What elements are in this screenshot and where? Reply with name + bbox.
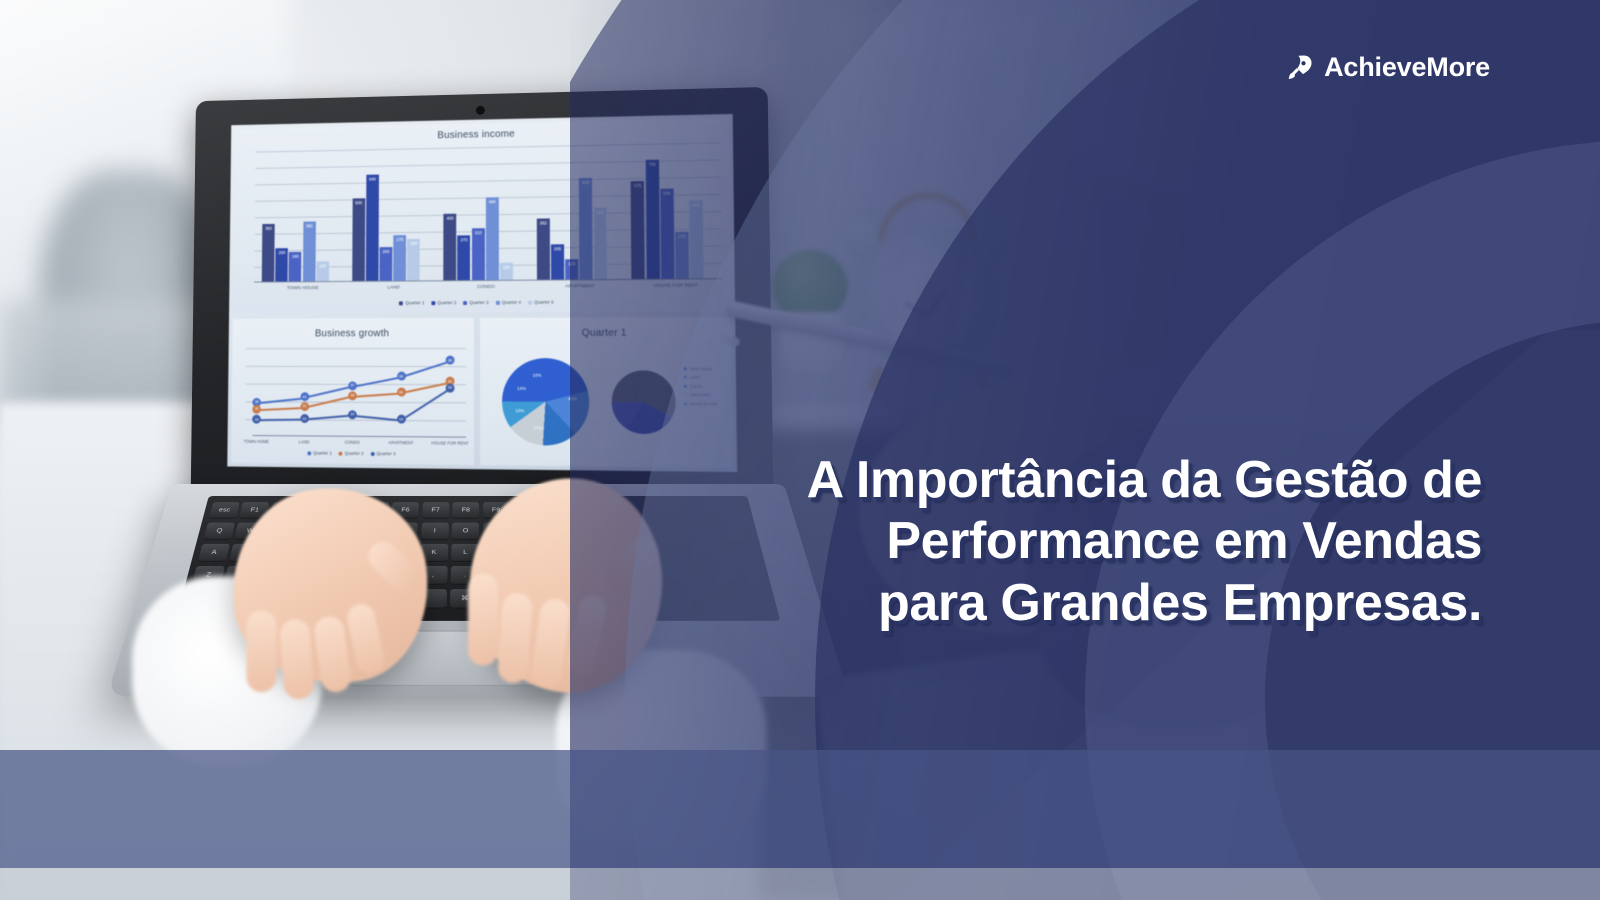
line-segment — [352, 392, 401, 397]
legend-item: Quarter 1 — [399, 300, 424, 305]
legend-item: Quarter 4 — [496, 300, 521, 305]
pie-slice-label: 17% — [533, 425, 542, 430]
line-segment — [257, 419, 305, 421]
bar-value-label: 200 — [278, 250, 285, 255]
data-point: 19 — [397, 415, 406, 424]
bar: 350 — [262, 224, 275, 282]
pie-slice-label: 14% — [517, 386, 526, 391]
bottom-band-lower — [0, 868, 1600, 900]
bar-value-label: 275 — [396, 237, 403, 242]
bar-value-label: 205 — [554, 247, 561, 252]
category-label: CONDO — [345, 440, 360, 445]
data-point: 19 — [300, 414, 309, 423]
bar-value-label: 490 — [489, 200, 496, 205]
page-title: A Importância da Gestão de Performance e… — [807, 450, 1482, 634]
data-point: 33 — [300, 402, 309, 411]
key: A — [198, 544, 230, 561]
bar: 490 — [486, 198, 499, 280]
data-point: 86 — [446, 356, 455, 365]
bar-value-label: 400 — [446, 215, 453, 220]
bottom-band — [0, 750, 1600, 868]
chart-title-growth: Business growth — [233, 328, 474, 339]
bar: 100 — [500, 263, 513, 280]
brand-logo[interactable]: AchieveMore — [1284, 52, 1490, 83]
key: O — [452, 523, 479, 539]
bar-value-label: 360 — [306, 224, 313, 229]
gridline — [246, 348, 466, 349]
bar-value-label: 362 — [540, 220, 547, 225]
category-label: LAND — [387, 286, 400, 291]
bar: 180 — [289, 252, 302, 282]
data-point: 50 — [397, 388, 406, 397]
bar-value-label: 250 — [410, 241, 417, 246]
legend-item: Quarter 3 — [371, 451, 396, 456]
key: Q — [204, 523, 235, 539]
legend-item: Quarter 3 — [463, 300, 488, 305]
legend-item: Quarter 5 — [528, 300, 554, 305]
pie-slice-label: 10% — [532, 373, 541, 378]
bar: 250 — [407, 239, 420, 281]
bar: 500 — [352, 198, 365, 281]
bar: 310 — [472, 228, 485, 280]
line-segment — [401, 360, 450, 377]
bar-value-label: 640 — [369, 177, 376, 182]
category-label: APARTMENT — [388, 440, 413, 445]
bar: 200 — [379, 247, 392, 280]
bar-value-label: 500 — [355, 200, 362, 205]
key: esc — [209, 502, 240, 518]
chart-business-growth: Business growth 384457688630334650621819… — [231, 318, 474, 465]
category-label: TOWN HOME — [244, 439, 269, 444]
bar: 200 — [275, 248, 288, 281]
bar: 270 — [458, 235, 471, 280]
webcam-icon — [476, 106, 485, 115]
bar-value-label: 180 — [292, 254, 299, 259]
poster-canvas: Business income 350200180360120500640200… — [0, 0, 1600, 900]
data-point: 44 — [300, 392, 309, 401]
bar-value-label: 310 — [475, 230, 482, 235]
data-point: 24 — [348, 410, 357, 419]
headline-line-3: para Grandes Empresas. — [807, 573, 1482, 634]
growth-axis — [253, 435, 466, 438]
bar-value-label: 100 — [503, 265, 510, 270]
category-label: CONDO — [477, 285, 495, 290]
data-point: 68 — [397, 372, 406, 381]
bar-value-label: 350 — [265, 226, 272, 231]
bar-value-label: 120 — [319, 263, 326, 268]
rocket-icon — [1284, 53, 1314, 83]
bar: 205 — [551, 245, 564, 280]
headline-line-1: A Importância da Gestão de — [807, 450, 1482, 511]
brand-name: AchieveMore — [1324, 52, 1490, 83]
line-segment — [257, 407, 305, 411]
bar: 400 — [443, 213, 456, 280]
pie-slice-label: 13% — [515, 408, 524, 413]
data-point: 30 — [252, 404, 261, 413]
data-point: 55 — [446, 383, 455, 392]
growth-lines: 384457688630334650621819241955 — [233, 318, 474, 319]
legend-item: Quarter 2 — [339, 451, 364, 456]
data-point: 18 — [252, 415, 261, 424]
data-point: 57 — [348, 381, 357, 390]
key: F7 — [422, 502, 449, 518]
bar: 360 — [302, 222, 315, 281]
legend-item: Quarter 2 — [431, 300, 456, 305]
line-segment — [352, 376, 401, 387]
bar: 120 — [316, 261, 329, 281]
data-point: 46 — [348, 391, 357, 400]
growth-legend: Quarter 1Quarter 2Quarter 3 — [231, 450, 474, 457]
bar-value-label: 200 — [382, 249, 389, 254]
category-label: LAND — [299, 439, 310, 444]
bar-value-label: 270 — [460, 237, 467, 242]
headline-line-2: Performance em Vendas — [807, 511, 1482, 572]
key: I — [421, 523, 449, 539]
line-segment — [401, 388, 451, 421]
growth-category-labels: TOWN HOMELANDCONDOAPARTMENTHOUSE FOR REN… — [233, 318, 474, 319]
category-label: TOWN HOUSE — [287, 286, 319, 291]
category-label: HOUSE FOR RENT — [431, 440, 468, 445]
growth-gridlines — [233, 318, 474, 319]
bar: 362 — [537, 218, 550, 279]
key: F8 — [452, 502, 479, 518]
bar: 275 — [393, 235, 406, 281]
legend-item: Quarter 1 — [307, 450, 332, 455]
bar: 640 — [366, 175, 379, 281]
